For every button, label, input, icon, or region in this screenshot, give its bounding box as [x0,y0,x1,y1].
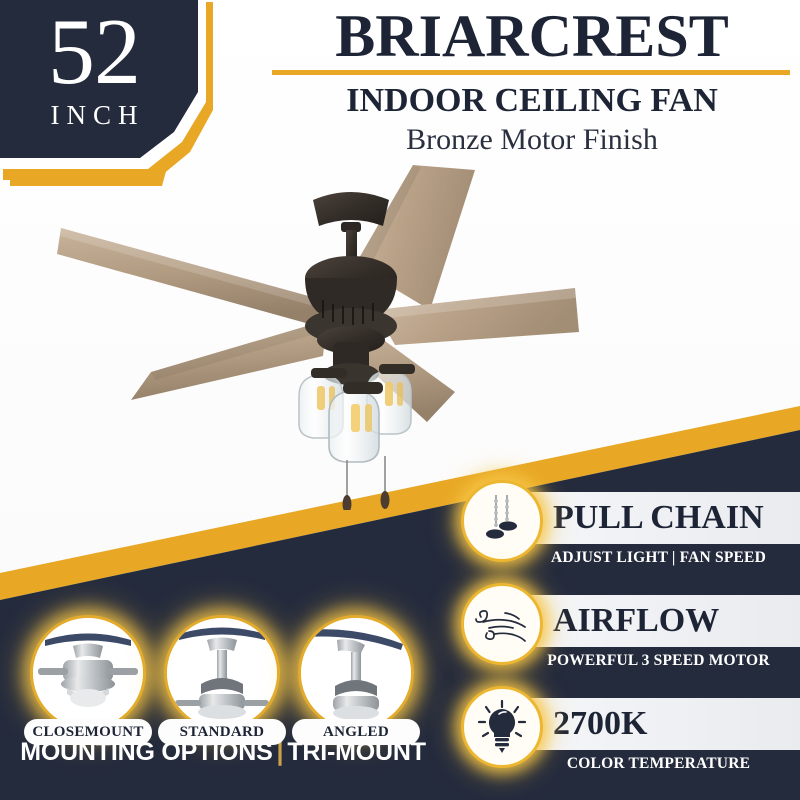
feature-title: AIRFLOW [553,602,719,640]
mounting-option-label-pill: ANGLED [292,719,420,745]
feature-title-bar: PULL CHAIN [517,492,800,544]
feature-title: PULL CHAIN [553,499,764,537]
product-finish: Bronze Motor Finish [272,122,792,158]
feature-subtitle: POWERFUL 3 SPEED MOTOR [517,651,800,671]
closemount-diagram-icon [30,615,146,731]
mounting-option-label-pill: STANDARD [158,719,286,745]
feature-title-bar: 2700K [517,698,800,750]
feature-row-pull-chain: PULL CHAIN ADJUST LIGHT | FAN SPEED [455,478,800,578]
pull-chain-knob-left [343,495,352,510]
ceiling-fan-illustration [55,160,675,510]
mounting-option-label: STANDARD [180,724,265,741]
title-block: BRIARCREST INDOOR CEILING FAN Bronze Mot… [272,4,792,158]
mounting-option-label-pill: CLOSEMOUNT [24,719,152,745]
product-infographic: 52 INCH BRIARCREST INDOOR CEILING FAN Br… [0,0,800,800]
lightbulb-icon [461,686,543,768]
feature-row-color-temperature: 2700K COLOR TEMPERATURE [455,684,800,784]
angled-mount-diagram-icon [298,615,414,731]
feature-list: PULL CHAIN ADJUST LIGHT | FAN SPEED [455,478,800,798]
mounting-option-label: CLOSEMOUNT [32,724,143,741]
feature-subtitle: COLOR TEMPERATURE [517,754,800,774]
feature-row-airflow: AIRFLOW POWERFUL 3 SPEED MOTOR [455,581,800,681]
title-divider-rule [272,70,790,75]
airflow-icon [461,583,543,665]
product-type: INDOOR CEILING FAN [272,80,792,122]
pull-chain-knob-right [381,491,390,509]
pull-chain-icon [461,480,543,562]
ceiling-fan-hero-image [55,160,675,510]
mounting-option-closemount: CLOSEMOUNT [24,615,152,745]
badge-navy-shape [0,0,198,158]
mounting-option-standard: STANDARD [158,615,286,745]
mounting-option-angled: ANGLED [292,615,420,745]
brand-name: BRIARCREST [272,4,792,68]
feature-subtitle: ADJUST LIGHT | FAN SPEED [517,548,800,568]
mounting-options-group: CLOSEMOUNT STANDARD [18,615,428,785]
feature-title: 2700K [553,705,647,743]
standard-mount-diagram-icon [164,615,280,731]
feature-title-bar: AIRFLOW [517,595,800,647]
mounting-option-label: ANGLED [323,724,389,741]
